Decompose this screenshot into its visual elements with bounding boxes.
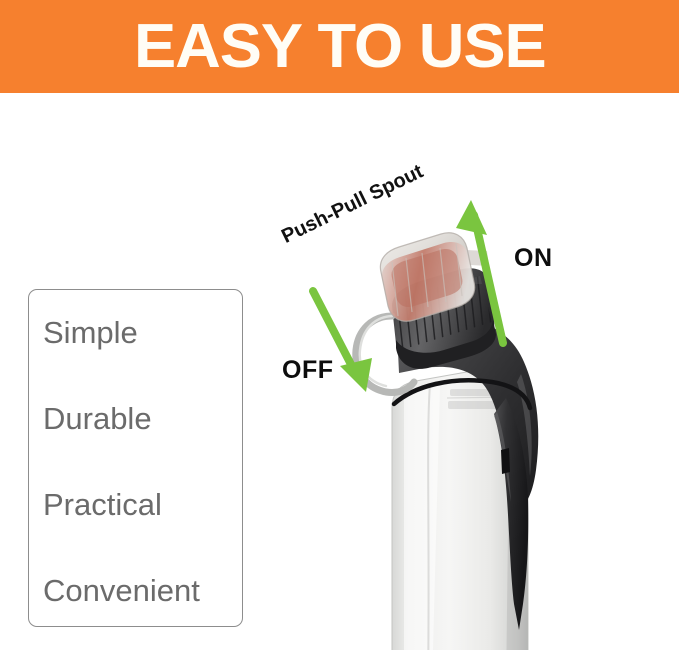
feature-item-convenient: Convenient	[43, 574, 242, 608]
feature-item-durable: Durable	[43, 402, 242, 436]
feature-item-simple: Simple	[43, 316, 242, 350]
feature-item-practical: Practical	[43, 488, 242, 522]
off-label: OFF	[282, 357, 334, 383]
feature-list-box: Simple Durable Practical Convenient	[28, 289, 243, 627]
page-title: EASY TO USE	[134, 16, 546, 78]
bottle-cap	[386, 261, 496, 369]
on-label: ON	[514, 245, 553, 271]
bottle-shoulder	[398, 320, 538, 509]
push-pull-spout-label: Push-Pull Spout	[279, 161, 427, 247]
header-banner: EASY TO USE	[0, 0, 679, 93]
bottle-tether-loop	[356, 316, 414, 393]
product-feature-graphic: EASY TO USE	[0, 0, 679, 650]
bottle-body	[392, 365, 528, 650]
push-pull-spout	[380, 233, 489, 321]
bottle-seal-ring	[394, 380, 530, 408]
bottle-clip	[494, 398, 528, 630]
on-arrow-icon	[456, 200, 503, 343]
